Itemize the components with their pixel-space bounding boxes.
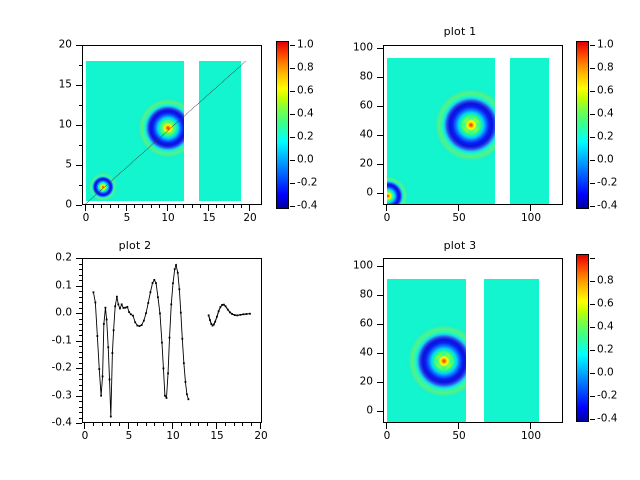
- xtick-label: 10: [158, 431, 188, 442]
- colorbar-tick-label: -0.4: [597, 414, 618, 425]
- ytick-label: 20: [340, 377, 373, 388]
- colorbar-tick-label: 0.0: [297, 155, 314, 166]
- colorbar-gradient: [577, 42, 588, 208]
- colorbar-gradient: [577, 255, 588, 421]
- panel-bottom-right-colorbar[interactable]: [576, 254, 589, 422]
- ytick-label: -0.2: [40, 363, 72, 374]
- colorbar-tick-label: 0.2: [597, 132, 614, 143]
- colorbar-tick-label: 0.8: [297, 63, 314, 74]
- series-dense-tail: [208, 304, 251, 327]
- ytick-label: -0.4: [40, 418, 72, 429]
- xtick-label: 5: [112, 213, 142, 224]
- panel-top-left[interactable]: 0 5 10 15 20: [0, 0, 320, 240]
- xtick-label: 15: [202, 431, 232, 442]
- xtick-label: 20: [246, 431, 276, 442]
- xtick-label: 0: [370, 431, 404, 442]
- xtick-label: 10: [153, 213, 183, 224]
- panel-bottom-left-title: plot 2: [0, 240, 270, 252]
- image-block-right: [199, 61, 241, 201]
- ytick-label: -0.3: [40, 390, 72, 401]
- xtick-label: 15: [194, 213, 224, 224]
- xtick-label: 0: [70, 431, 100, 442]
- ytick-label: 80: [340, 72, 373, 83]
- figure-canvas: 0 5 10 15 20: [0, 0, 640, 480]
- ytick-label: 60: [340, 101, 373, 112]
- ytick-label: 60: [340, 319, 373, 330]
- xtick-label: 0: [370, 213, 404, 224]
- image-block-right: [510, 58, 549, 205]
- colorbar-tick-label: -0.4: [297, 201, 318, 212]
- panel-top-right-axes[interactable]: [383, 45, 563, 205]
- ytick-label: 10: [46, 120, 72, 131]
- panel-top-right-colorbar[interactable]: [576, 41, 589, 209]
- colorbar-tick-label: 0.8: [597, 63, 614, 74]
- xtick-label: 5: [114, 431, 144, 442]
- ytick-label: 0.2: [40, 253, 72, 264]
- ytick-label: 40: [340, 130, 373, 141]
- xtick-label: 0: [71, 213, 101, 224]
- colorbar-gradient: [277, 42, 288, 208]
- colorbar-tick-label: 1.0: [297, 40, 314, 51]
- ytick-label: 80: [340, 290, 373, 301]
- ytick-label: 0: [340, 406, 373, 417]
- panel-top-left-axes[interactable]: [82, 45, 262, 205]
- colorbar-tick-label: 0.6: [597, 299, 614, 310]
- colorbar-tick-label: 0.4: [597, 322, 614, 333]
- ytick-label: 100: [340, 261, 373, 272]
- image-block-left: [387, 58, 495, 205]
- ripple-center-small: [387, 175, 409, 205]
- colorbar-tick-label: 0.4: [297, 109, 314, 120]
- panel-top-left-colorbar[interactable]: [276, 41, 289, 209]
- image-block-left: [86, 61, 184, 201]
- ytick-label: 0: [46, 200, 72, 211]
- ytick-label: 0.1: [40, 280, 72, 291]
- colorbar-tick-label: 0.6: [297, 86, 314, 97]
- colorbar-tick-label: -0.2: [597, 391, 618, 402]
- xtick-label: 50: [442, 213, 476, 224]
- colorbar-tick-label: -0.2: [597, 178, 618, 189]
- panel-top-right-title: plot 1: [320, 26, 600, 38]
- ytick-label: 20: [46, 40, 72, 51]
- image-block-right: [484, 279, 539, 423]
- image-block-left: [387, 279, 466, 423]
- panel-bottom-left[interactable]: plot 2: [0, 240, 320, 480]
- colorbar-tick-label: 0.0: [597, 368, 614, 379]
- ytick-label: 0.0: [40, 308, 72, 319]
- colorbar-tick-label: 1.0: [597, 40, 614, 51]
- series-sparse-oscillation: [93, 264, 190, 417]
- colorbar-tick-label: 0.2: [597, 345, 614, 356]
- colorbar-tick-label: 0.8: [597, 276, 614, 287]
- colorbar-tick-label: -0.4: [597, 201, 618, 212]
- colorbar-tick-label: 0.6: [597, 86, 614, 97]
- colorbar-tick-label: -0.2: [297, 178, 318, 189]
- panel-bottom-right-title: plot 3: [320, 240, 600, 252]
- xtick-label: 100: [514, 213, 548, 224]
- colorbar-tick-label: 0.0: [597, 155, 614, 166]
- ytick-label: 15: [46, 80, 72, 91]
- panel-top-right[interactable]: plot 1 0 20 40 60 80 100: [320, 0, 640, 240]
- ytick-label: 20: [340, 159, 373, 170]
- ytick-label: 40: [340, 348, 373, 359]
- colorbar-tick-label: 0.2: [297, 132, 314, 143]
- ytick-label: -0.1: [40, 335, 72, 346]
- panel-bottom-left-axes[interactable]: [82, 258, 262, 423]
- lineplot-series: [83, 259, 262, 423]
- xtick-label: 50: [442, 431, 476, 442]
- colorbar-tick-label: 0.4: [597, 109, 614, 120]
- panel-bottom-right-axes[interactable]: [383, 258, 563, 423]
- ytick-label: 0: [340, 188, 373, 199]
- ytick-label: 100: [340, 43, 373, 54]
- xtick-label: 100: [514, 431, 548, 442]
- ytick-label: 5: [46, 160, 72, 171]
- xtick-label: 20: [235, 213, 265, 224]
- panel-bottom-right[interactable]: plot 3 0 20 40 60 80 100: [320, 240, 640, 480]
